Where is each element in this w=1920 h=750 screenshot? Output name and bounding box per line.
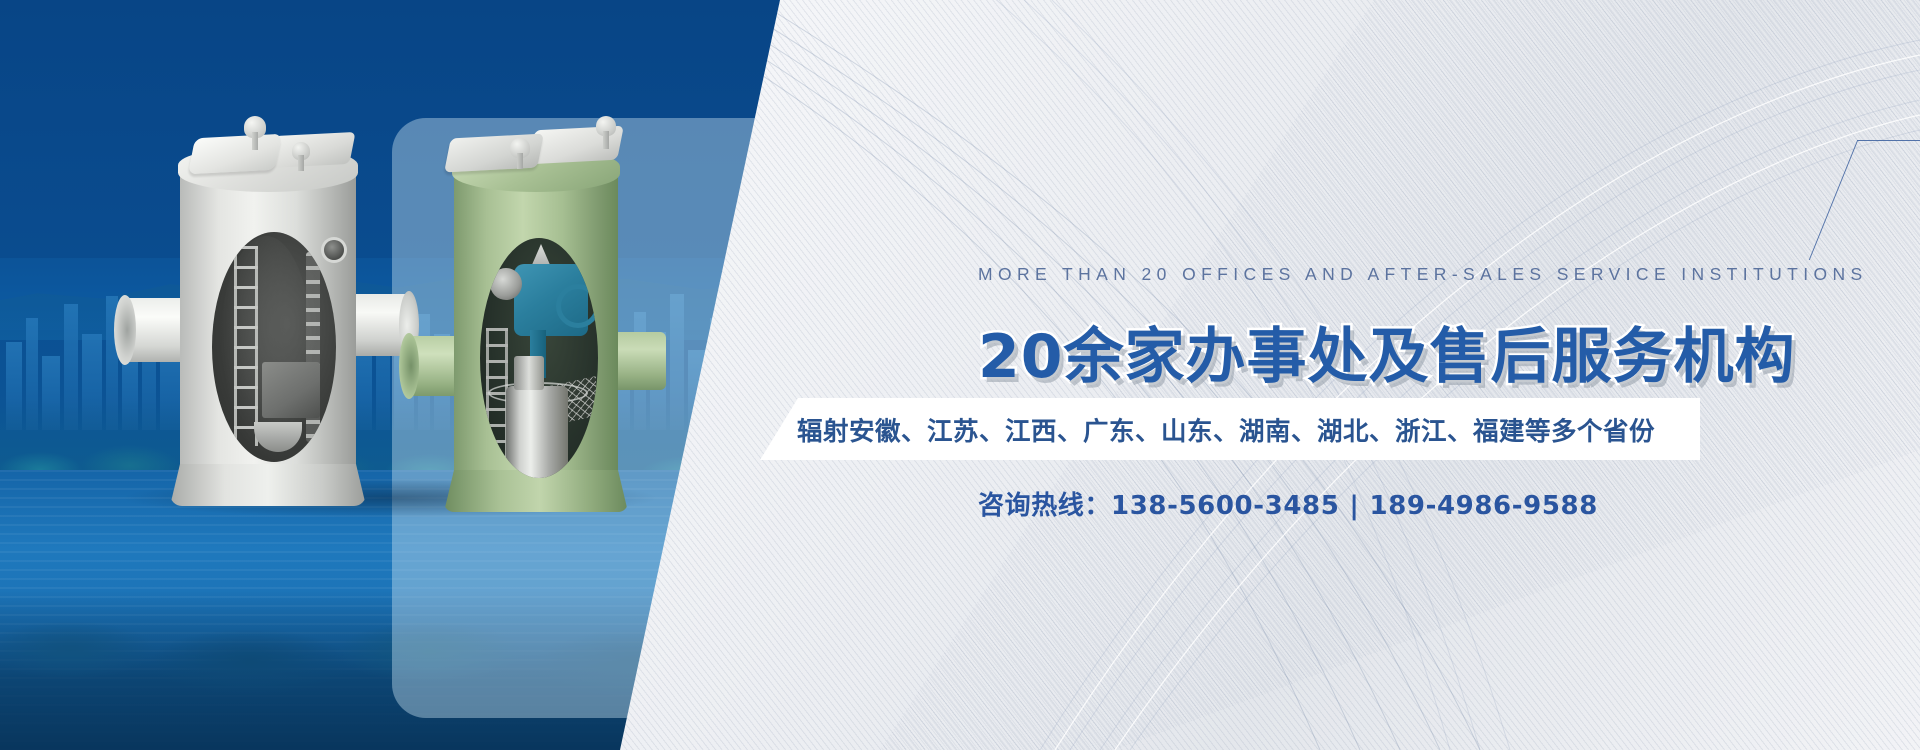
english-tagline: MORE THAN 20 OFFICES AND AFTER-SALES SER… xyxy=(978,264,1868,285)
phone-secondary[interactable]: 189-4986-9588 xyxy=(1370,491,1598,521)
subtitle-provinces: 辐射安徽、江苏、江西、广东、山东、湖南、湖北、浙江、福建等多个省份 xyxy=(797,398,1697,460)
phone-separator: | xyxy=(1339,491,1369,521)
main-headline: 20余家办事处及售后服务机构 xyxy=(978,308,1796,395)
promotional-banner: MORE THAN 20 OFFICES AND AFTER-SALES SER… xyxy=(0,0,1920,750)
phone-primary[interactable]: 138-5600-3485 xyxy=(1111,491,1339,521)
hotline-row: 咨询热线：138-5600-3485|189-4986-9588 xyxy=(978,485,1598,522)
banner-text-content: MORE THAN 20 OFFICES AND AFTER-SALES SER… xyxy=(0,0,1920,750)
hotline-label: 咨询热线： xyxy=(978,491,1111,521)
